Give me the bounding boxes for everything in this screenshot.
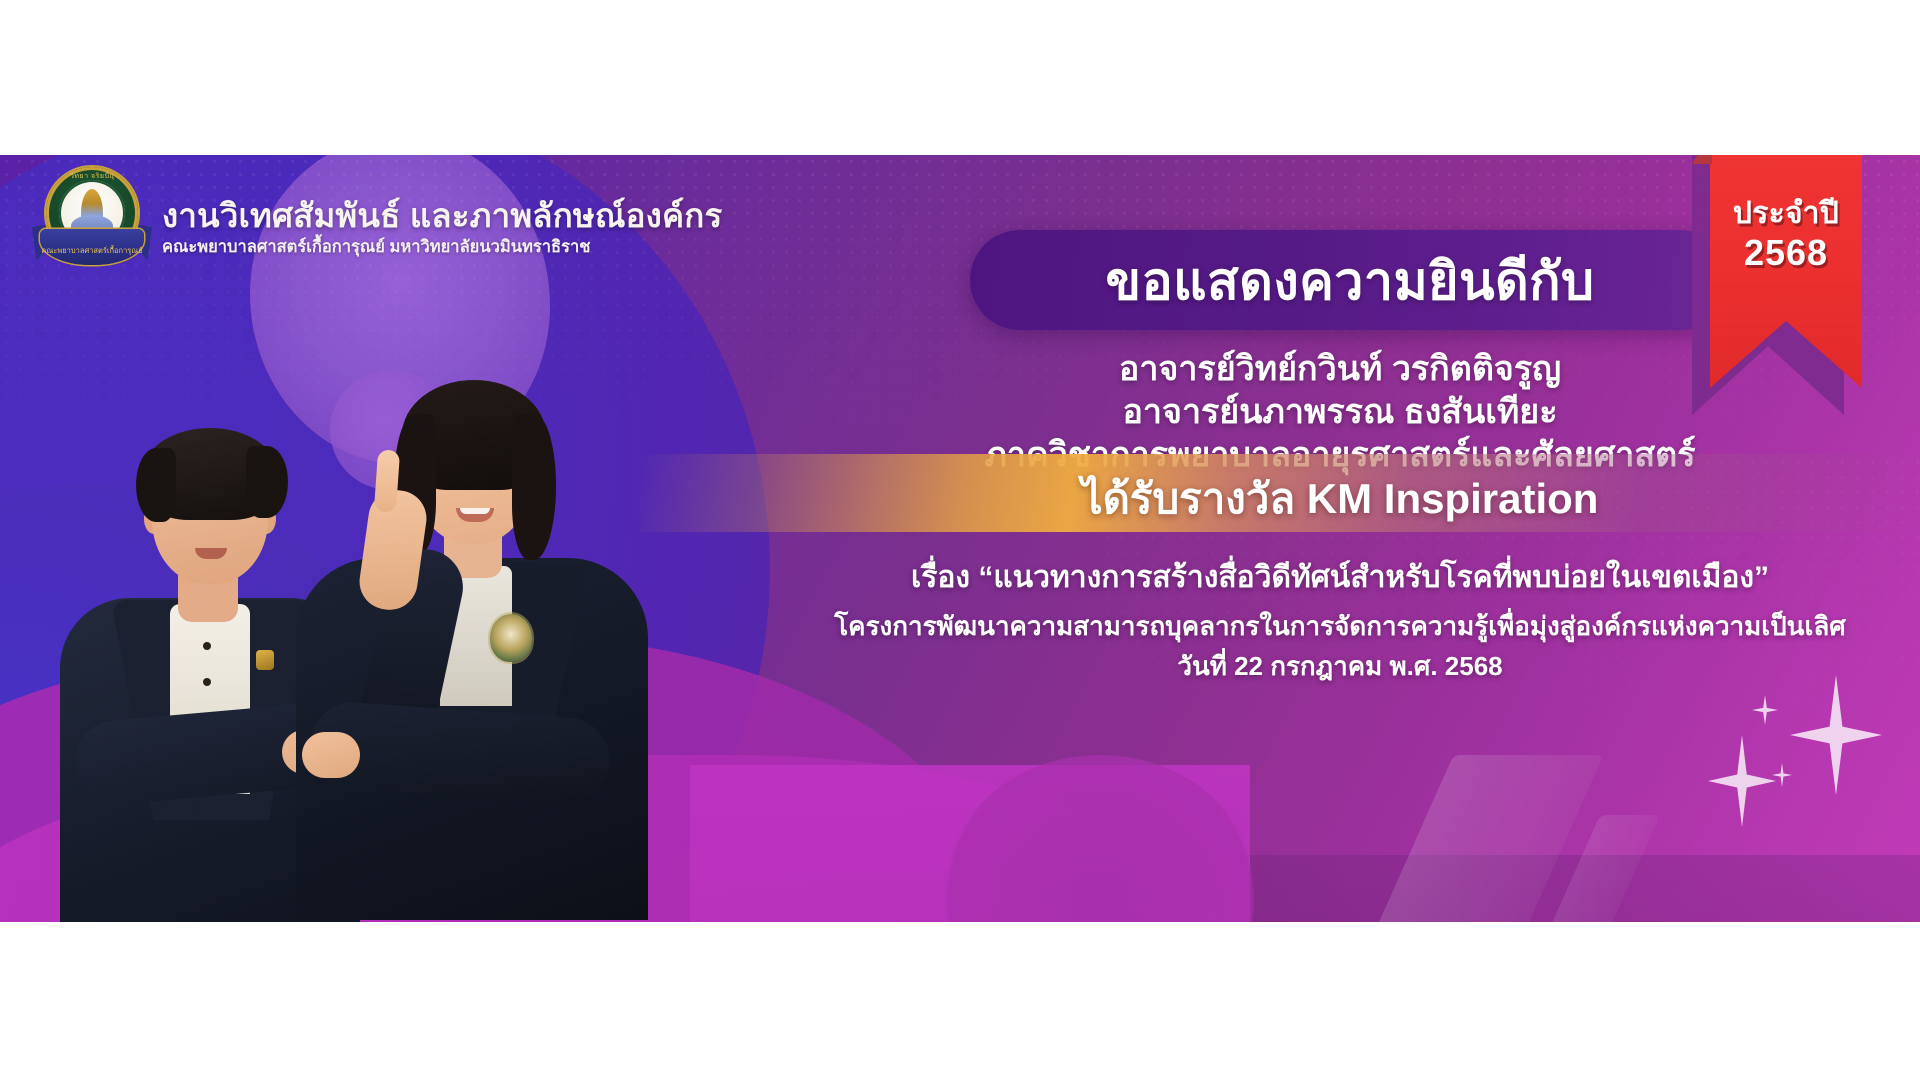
event-date: วันที่ 22 กรกฎาคม พ.ศ. 2568 (720, 646, 1920, 687)
congratulations-pill: ขอแสดงความยินดีกับ (970, 230, 1730, 330)
congratulations-headline: ขอแสดงความยินดีกับ (1106, 239, 1595, 322)
year-ribbon-value: 2568 (1710, 232, 1862, 274)
lapel-pin-icon (256, 650, 274, 670)
year-ribbon: ประจำปี 2568 (1710, 155, 1862, 395)
organization-subtitle: คณะพยาบาลศาสตร์เกื้อการุณย์ มหาวิทยาลัยน… (162, 237, 722, 258)
year-ribbon-label: ประจำปี (1710, 190, 1862, 237)
university-seal-icon: วิทยา จริยปัญญา เมตตา มหาวิทยาลัยนวมินทร… (40, 167, 144, 285)
award-topic: เรื่อง “แนวทางการสร้างสื่อวิดีทัศน์สำหรั… (720, 554, 1920, 601)
project-name: โครงการพัฒนาความสามารถบุคลากรในการจัดการ… (720, 606, 1920, 647)
congratulations-banner: วิทยา จริยปัญญา เมตตา มหาวิทยาลัยนวมินทร… (0, 155, 1920, 922)
award-title: ได้รับรางวัล KM Inspiration (760, 466, 1920, 532)
honoree-person-right (290, 362, 650, 922)
organization-title: งานวิเทศสัมพันธ์ และภาพลักษณ์องค์กร (162, 198, 722, 235)
faculty-crest-icon (490, 614, 532, 662)
seal-ribbon-text: คณะพยาบาลศาสตร์เกื้อการุณย์ (40, 245, 144, 257)
organization-text-block: งานวิเทศสัมพันธ์ และภาพลักษณ์องค์กร คณะพ… (162, 194, 722, 258)
honoree-photo (40, 335, 700, 922)
seal-ribbon: คณะพยาบาลศาสตร์เกื้อการุณย์ (40, 229, 144, 265)
banner-header: วิทยา จริยปัญญา เมตตา มหาวิทยาลัยนวมินทร… (40, 167, 722, 285)
